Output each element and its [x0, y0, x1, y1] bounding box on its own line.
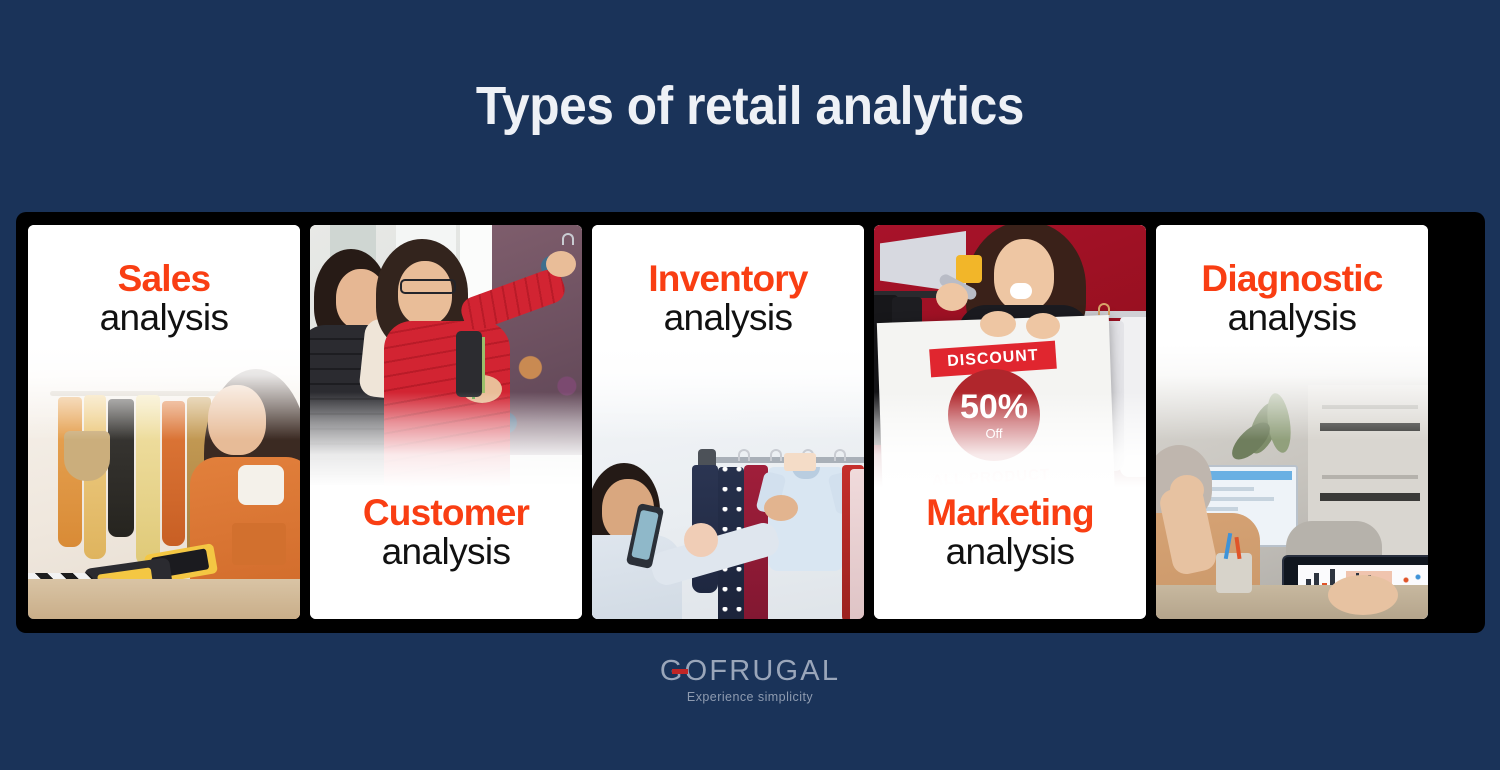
card-marketing-secondary: analysis	[884, 532, 1136, 573]
card-sales-label: Sales analysis	[28, 225, 300, 345]
card-marketing[interactable]: Marketing analysis	[874, 225, 1146, 619]
logo: GOFRUGAL	[660, 655, 840, 688]
card-customer-primary: Customer	[320, 493, 572, 532]
footer: GOFRUGAL Experience simplicity	[0, 655, 1500, 704]
card-inventory-primary: Inventory	[602, 259, 854, 298]
card-customer[interactable]: Customer analysis	[310, 225, 582, 619]
card-marketing-label: Marketing analysis	[874, 487, 1146, 619]
card-diagnostic-image	[1156, 345, 1428, 619]
logo-g-bar-icon	[672, 669, 688, 674]
card-sales-secondary: analysis	[38, 298, 290, 339]
card-customer-image	[310, 225, 582, 487]
logo-tagline: Experience simplicity	[687, 690, 813, 704]
card-sales-primary: Sales	[38, 259, 290, 298]
cards-band: Sales analysis	[16, 212, 1485, 633]
card-marketing-primary: Marketing	[884, 493, 1136, 532]
card-inventory-secondary: analysis	[602, 298, 854, 339]
header: Types of retail analytics	[0, 0, 1500, 212]
card-sales-image	[28, 345, 300, 619]
discount-percent: 50%	[960, 390, 1028, 424]
card-diagnostic-primary: Diagnostic	[1166, 259, 1418, 298]
card-marketing-image: DISCOUNT 50% Off ALL PRODUCT	[874, 225, 1146, 487]
card-inventory-label: Inventory analysis	[592, 225, 864, 345]
card-diagnostic[interactable]: Diagnostic analysis	[1156, 225, 1428, 619]
card-customer-label: Customer analysis	[310, 487, 582, 619]
card-customer-secondary: analysis	[320, 532, 572, 573]
card-diagnostic-label: Diagnostic analysis	[1156, 225, 1428, 345]
discount-footer: ALL PRODUCT	[932, 466, 1051, 487]
card-inventory[interactable]: Inventory analysis	[592, 225, 864, 619]
card-inventory-image	[592, 345, 864, 619]
page-title: Types of retail analytics	[476, 75, 1024, 137]
discount-off: Off	[985, 426, 1002, 441]
card-sales[interactable]: Sales analysis	[28, 225, 300, 619]
card-diagnostic-secondary: analysis	[1166, 298, 1418, 339]
